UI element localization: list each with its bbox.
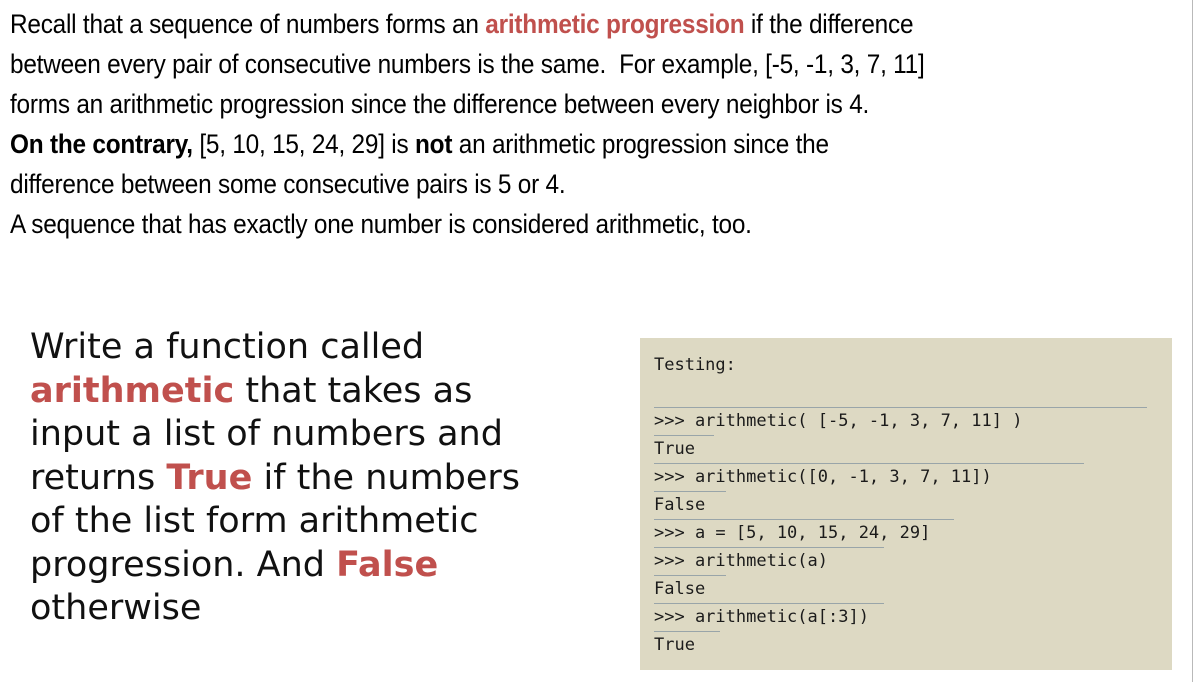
code-prompt-line: >>> arithmetic(a) bbox=[654, 547, 1172, 575]
intro-text-run: forms an arithmetic progression since th… bbox=[10, 89, 869, 119]
intro-text-run: A sequence that has exactly one number i… bbox=[10, 209, 752, 239]
task-text-run: False bbox=[336, 545, 438, 585]
task-line: arithmetic that takes as bbox=[30, 370, 630, 414]
intro-line: difference between some consecutive pair… bbox=[10, 164, 1096, 204]
code-output-line: True bbox=[654, 435, 1172, 463]
code-prompt-line: >>> arithmetic(a[:3]) bbox=[654, 603, 1172, 631]
code-prompt-line: >>> a = [5, 10, 15, 24, 29] bbox=[654, 519, 1172, 547]
task-text-run: returns bbox=[30, 458, 166, 498]
code-prompt-line: >>> arithmetic( [-5, -1, 3, 7, 11] ) bbox=[654, 407, 1172, 435]
page-right-edge-rule bbox=[1192, 0, 1193, 682]
task-line: otherwise bbox=[30, 587, 630, 631]
task-text-run: that takes as bbox=[234, 371, 472, 411]
intro-text-run: if the difference bbox=[744, 9, 913, 39]
testing-heading: Testing: bbox=[654, 352, 1172, 379]
task-line: progression. And False bbox=[30, 544, 630, 588]
task-text-run: of the list form arithmetic bbox=[30, 501, 478, 541]
task-line: Write a function called bbox=[30, 326, 630, 370]
task-text-run: if the numbers bbox=[252, 458, 520, 498]
task-line: returns True if the numbers bbox=[30, 457, 630, 501]
task-line: of the list form arithmetic bbox=[30, 500, 630, 544]
code-output-line: True bbox=[654, 631, 1172, 659]
intro-text-run: not bbox=[415, 129, 452, 159]
testing-code-panel: Testing: >>> arithmetic( [-5, -1, 3, 7, … bbox=[640, 338, 1172, 670]
task-text-run: input a list of numbers and bbox=[30, 414, 503, 454]
intro-text-run: Recall that a sequence of numbers forms … bbox=[10, 9, 485, 39]
task-line: input a list of numbers and bbox=[30, 413, 630, 457]
intro-line: On the contrary, [5, 10, 15, 24, 29] is … bbox=[10, 124, 1096, 164]
task-text-run: arithmetic bbox=[30, 371, 234, 411]
intro-text-run: arithmetic progression bbox=[485, 9, 744, 39]
intro-line: A sequence that has exactly one number i… bbox=[10, 204, 1096, 244]
intro-line: forms an arithmetic progression since th… bbox=[10, 84, 1096, 124]
intro-text-run: between every pair of consecutive number… bbox=[10, 49, 925, 79]
task-text-run: progression. And bbox=[30, 545, 336, 585]
intro-text-run: On the contrary, bbox=[10, 129, 193, 159]
intro-paragraph: Recall that a sequence of numbers forms … bbox=[10, 4, 1096, 244]
code-prompt-line: >>> arithmetic([0, -1, 3, 7, 11]) bbox=[654, 463, 1172, 491]
intro-line: Recall that a sequence of numbers forms … bbox=[10, 4, 1096, 44]
task-text-run: Write a function called bbox=[30, 327, 424, 367]
task-text-run: otherwise bbox=[30, 588, 201, 628]
code-output-line: False bbox=[654, 575, 1172, 603]
intro-text-run: [5, 10, 15, 24, 29] is bbox=[193, 129, 415, 159]
code-line-list: >>> arithmetic( [-5, -1, 3, 7, 11] )True… bbox=[654, 407, 1172, 659]
intro-line: between every pair of consecutive number… bbox=[10, 44, 1096, 84]
task-statement: Write a function calledarithmetic that t… bbox=[30, 326, 630, 631]
intro-text-run: difference between some consecutive pair… bbox=[10, 169, 565, 199]
intro-text-run: an arithmetic progression since the bbox=[452, 129, 829, 159]
task-text-run: True bbox=[166, 458, 252, 498]
code-output-line: False bbox=[654, 491, 1172, 519]
